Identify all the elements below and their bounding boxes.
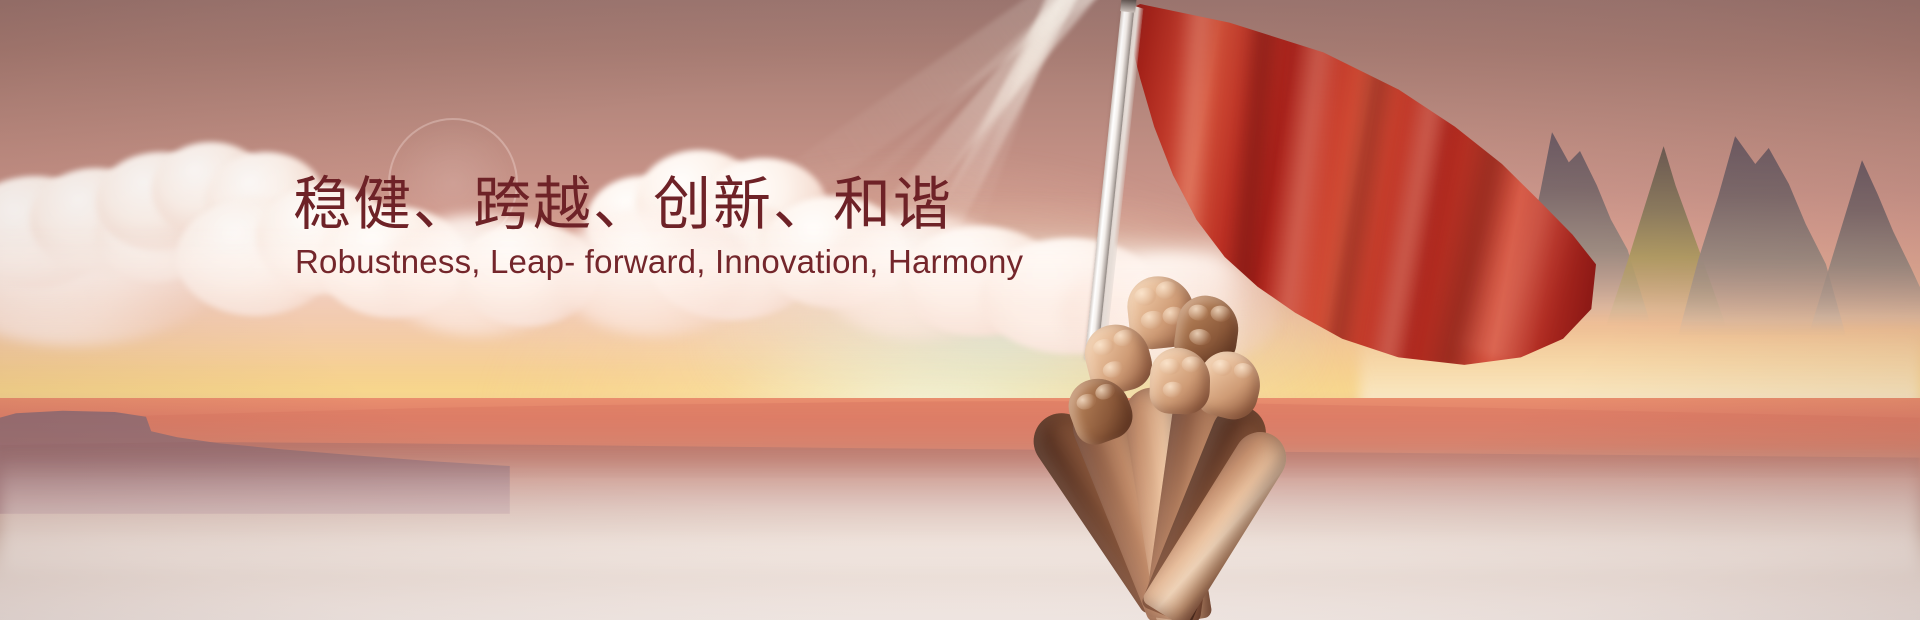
banner-subheadline-english: Robustness, Leap- forward, Innovation, H… [295,245,1073,278]
banner-text-block: 稳健、跨越、创新、和谐 Robustness, Leap- forward, I… [293,176,1073,278]
banner-headline-chinese: 稳健、跨越、创新、和谐 [293,176,1073,234]
bottom-fade [0,530,1920,620]
hero-banner: 稳健、跨越、创新、和谐 Robustness, Leap- forward, I… [0,0,1920,620]
